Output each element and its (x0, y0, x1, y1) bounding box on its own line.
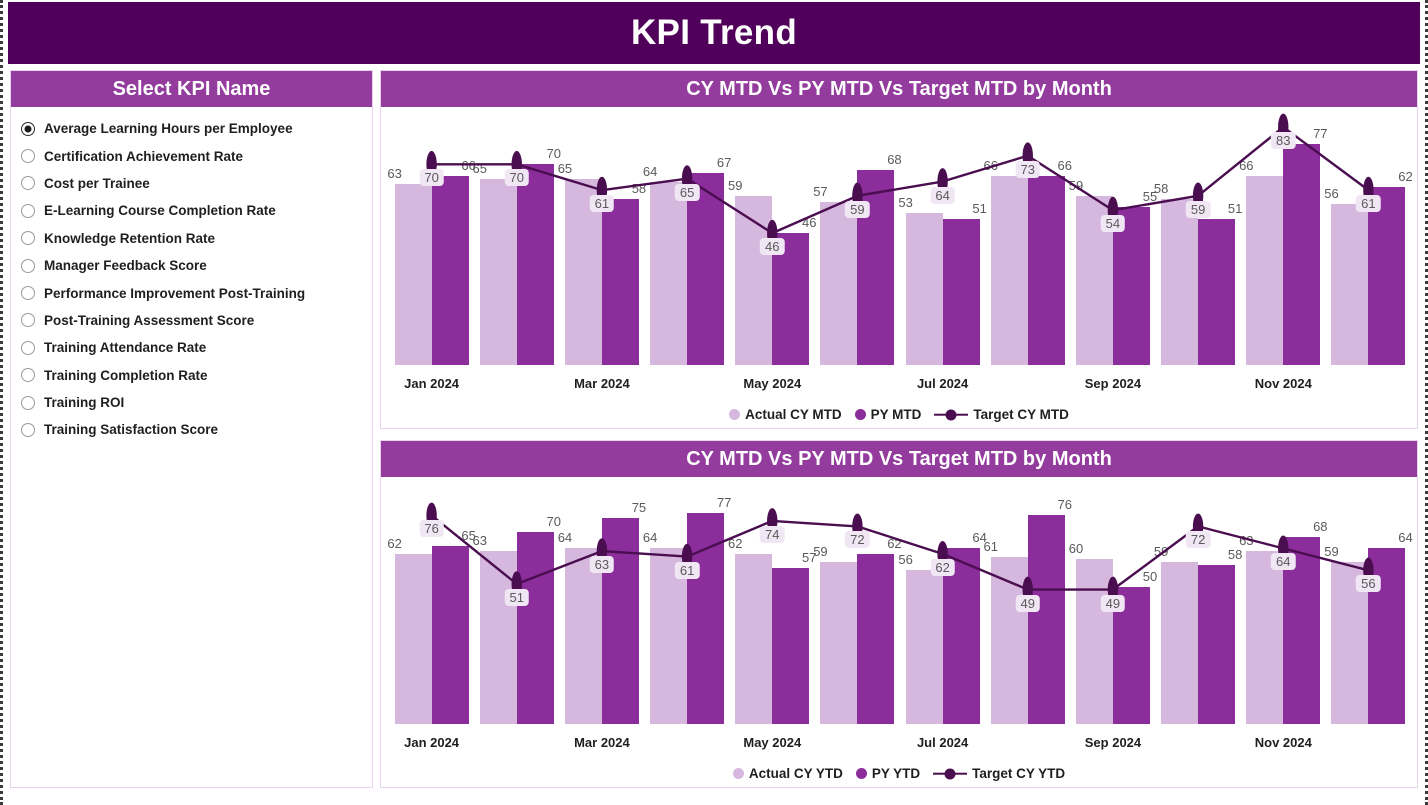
bars (985, 107, 1070, 365)
x-axis-label: Mar 2024 (559, 735, 644, 750)
bar-py[interactable] (857, 170, 894, 365)
bar-data-label: 63 (387, 166, 401, 181)
chart-header-mtd: CY MTD Vs PY MTD Vs Target MTD by Month (381, 71, 1417, 107)
radio-button-icon[interactable] (21, 204, 35, 218)
target-data-label: 61 (590, 195, 614, 212)
plot-area-ytd: 6265Jan 20246370Feb 20246475Mar 20246477… (381, 477, 1417, 750)
month-group[interactable]: 6666Aug 2024 (985, 107, 1070, 391)
legend-label: Target CY YTD (972, 766, 1065, 781)
slicer-header: Select KPI Name (11, 71, 372, 107)
chart-header-ytd: CY MTD Vs PY MTD Vs Target MTD by Month (381, 441, 1417, 477)
radio-button-icon[interactable] (21, 368, 35, 382)
month-group[interactable]: 5662Dec 2024 (1326, 107, 1411, 391)
bar-group-container: 6265Jan 20246370Feb 20246475Mar 20246477… (389, 477, 1411, 750)
target-data-label: 51 (505, 589, 529, 606)
target-data-label: 70 (505, 169, 529, 186)
report-page: KPI Trend Select KPI Name Average Learni… (0, 0, 1428, 805)
radio-button-icon[interactable] (21, 341, 35, 355)
legend-item[interactable]: Actual CY MTD (729, 407, 842, 422)
bar-data-label: 64 (643, 164, 657, 179)
chart-legend-ytd[interactable]: Actual CY YTDPY YTDTarget CY YTD (381, 766, 1417, 781)
target-data-label: 76 (419, 520, 443, 537)
slicer-item[interactable]: Knowledge Retention Rate (21, 225, 372, 252)
slicer-item[interactable]: Certification Achievement Rate (21, 142, 372, 169)
bars (559, 107, 644, 365)
target-data-label: 64 (1271, 553, 1295, 570)
bar-data-label: 57 (813, 184, 827, 199)
bar-data-label: 59 (728, 178, 742, 193)
bar-data-label: 64 (643, 530, 657, 545)
bar-py[interactable] (432, 546, 469, 724)
bar-actual[interactable] (395, 554, 432, 724)
legend-label: PY MTD (871, 407, 922, 422)
x-axis-label: Mar 2024 (559, 376, 644, 391)
bar-data-label: 53 (898, 195, 912, 210)
bars (815, 477, 900, 724)
bar-actual[interactable] (820, 202, 857, 365)
bar-actual[interactable] (1161, 199, 1198, 365)
month-group[interactable]: 5768Jun 2024 (815, 107, 900, 391)
legend-item[interactable]: Target CY MTD (934, 407, 1069, 422)
x-axis-label: May 2024 (730, 376, 815, 391)
bar-data-label: 58 (1154, 181, 1168, 196)
month-group[interactable]: 6176Aug 2024 (985, 477, 1070, 750)
bars (1326, 107, 1411, 365)
bar-py[interactable] (687, 513, 724, 724)
bar-data-label: 61 (984, 539, 998, 554)
bar-py[interactable] (517, 164, 554, 365)
line-marker-icon (933, 768, 967, 779)
radio-button-icon[interactable] (21, 122, 35, 136)
slicer-item[interactable]: Training Completion Rate (21, 362, 372, 389)
slicer-item-label: Average Learning Hours per Employee (44, 121, 293, 136)
bar-actual[interactable] (991, 176, 1028, 365)
bar-data-label: 62 (387, 536, 401, 551)
legend-swatch-icon (856, 768, 867, 779)
month-group[interactable]: 5962Jun 2024 (815, 477, 900, 750)
x-axis-label: Nov 2024 (1241, 735, 1326, 750)
bar-data-label: 64 (558, 530, 572, 545)
slicer-item-label: Manager Feedback Score (44, 258, 207, 273)
target-data-label: 59 (1186, 201, 1210, 218)
bar-py[interactable] (1283, 144, 1320, 365)
month-group[interactable]: 5351Jul 2024 (900, 107, 985, 391)
bar-data-label: 59 (1154, 544, 1168, 559)
bars (645, 477, 730, 724)
bar-py[interactable] (943, 219, 980, 365)
month-group[interactable]: 6677Nov 2024 (1241, 107, 1326, 391)
slicer-item-label: Performance Improvement Post-Training (44, 286, 305, 301)
radio-button-icon[interactable] (21, 259, 35, 273)
bar-data-label: 63 (1239, 533, 1253, 548)
month-group[interactable]: 6558Mar 2024 (559, 107, 644, 391)
bar-actual[interactable] (1246, 551, 1283, 724)
slicer-item[interactable]: Training Attendance Rate (21, 334, 372, 361)
target-data-label: 61 (1356, 195, 1380, 212)
bar-py[interactable] (1028, 176, 1065, 365)
bars (1326, 477, 1411, 724)
legend-item[interactable]: PY MTD (855, 407, 922, 422)
target-data-label: 74 (760, 526, 784, 543)
bar-data-label: 59 (1069, 178, 1083, 193)
bar-py[interactable] (1198, 565, 1235, 724)
report-title-bar: KPI Trend (8, 2, 1420, 64)
target-data-label: 49 (1016, 595, 1040, 612)
month-group[interactable]: 5964Dec 2024 (1326, 477, 1411, 750)
x-axis-label: May 2024 (730, 735, 815, 750)
bars (389, 477, 474, 724)
x-axis-label: Jul 2024 (900, 376, 985, 391)
bar-data-label: 56 (898, 552, 912, 567)
bars (900, 107, 985, 365)
legend-label: Actual CY MTD (745, 407, 842, 422)
slicer-item-label: Training Satisfaction Score (44, 422, 218, 437)
slicer-item[interactable]: Cost per Trainee (21, 170, 372, 197)
bar-actual[interactable] (1331, 204, 1368, 365)
x-axis-label: Jul 2024 (900, 735, 985, 750)
month-group[interactable]: 6475Mar 2024 (559, 477, 644, 750)
month-group[interactable]: 6370Feb 2024 (474, 477, 559, 750)
bars (900, 477, 985, 724)
month-group[interactable]: 6050Sep 2024 (1070, 477, 1155, 750)
line-marker-icon (934, 409, 968, 420)
slicer-item[interactable]: Manager Feedback Score (21, 252, 372, 279)
bar-data-label: 66 (1239, 158, 1253, 173)
target-data-label: 83 (1271, 132, 1295, 149)
month-group[interactable]: 5955Sep 2024 (1070, 107, 1155, 391)
legend-label: PY YTD (872, 766, 920, 781)
slicer-item-list: Average Learning Hours per EmployeeCerti… (11, 107, 372, 444)
bar-py[interactable] (602, 518, 639, 724)
bar-py[interactable] (1198, 219, 1235, 365)
radio-button-icon[interactable] (21, 313, 35, 327)
bar-py[interactable] (1368, 187, 1405, 365)
slicer-item-label: Cost per Trainee (44, 176, 150, 191)
target-data-label: 63 (590, 556, 614, 573)
legend-label: Actual CY YTD (749, 766, 843, 781)
slicer-item[interactable]: Post-Training Assessment Score (21, 307, 372, 334)
radio-button-icon[interactable] (21, 231, 35, 245)
bars (1156, 107, 1241, 365)
bar-actual[interactable] (1161, 562, 1198, 724)
legend-swatch-icon (733, 768, 744, 779)
bar-py[interactable] (857, 554, 894, 724)
target-data-label: 65 (675, 184, 699, 201)
month-group[interactable]: 6265Jan 2024 (389, 477, 474, 750)
bar-py[interactable] (687, 173, 724, 365)
radio-button-icon[interactable] (21, 176, 35, 190)
bar-py[interactable] (772, 568, 809, 724)
kpi-name-slicer[interactable]: Select KPI Name Average Learning Hours p… (10, 70, 373, 788)
target-data-label: 54 (1101, 215, 1125, 232)
legend-item[interactable]: PY YTD (856, 766, 920, 781)
bar-py[interactable] (517, 532, 554, 724)
chart-title-ytd: CY MTD Vs PY MTD Vs Target MTD by Month (686, 448, 1112, 471)
chart-legend-mtd[interactable]: Actual CY MTDPY MTDTarget CY MTD (381, 407, 1417, 422)
month-group[interactable]: 5851Oct 2024 (1156, 107, 1241, 391)
bar-group-container: 6366Jan 20246570Feb 20246558Mar 20246467… (389, 107, 1411, 391)
bar-data-label: 60 (1069, 541, 1083, 556)
bar-data-label: 56 (1324, 186, 1338, 201)
legend-swatch-icon (855, 409, 866, 420)
slicer-item-label: Post-Training Assessment Score (44, 313, 254, 328)
radio-button-icon[interactable] (21, 149, 35, 163)
slicer-item[interactable]: Performance Improvement Post-Training (21, 279, 372, 306)
bar-data-label: 65 (558, 161, 572, 176)
target-data-label: 62 (930, 559, 954, 576)
bars (1070, 107, 1155, 365)
month-group[interactable]: 6368Nov 2024 (1241, 477, 1326, 750)
plot-ytd[interactable]: 6265Jan 20246370Feb 20246475Mar 20246477… (389, 477, 1411, 750)
bars (1241, 477, 1326, 724)
x-axis-label: Jan 2024 (389, 735, 474, 750)
slicer-item-label: Training ROI (44, 395, 124, 410)
bars (730, 477, 815, 724)
month-group[interactable]: 6366Jan 2024 (389, 107, 474, 391)
bar-data-label: 65 (473, 161, 487, 176)
bar-py[interactable] (602, 199, 639, 365)
legend-label: Target CY MTD (973, 407, 1069, 422)
chart-card-ytd: CY MTD Vs PY MTD Vs Target MTD by Month … (380, 440, 1418, 788)
bars (645, 107, 730, 365)
bars (389, 107, 474, 365)
slicer-item-label: E-Learning Course Completion Rate (44, 203, 276, 218)
month-group[interactable]: 5664Jul 2024 (900, 477, 985, 750)
bar-actual[interactable] (650, 182, 687, 365)
bar-actual[interactable] (906, 213, 943, 365)
plot-area-mtd: 6366Jan 20246570Feb 20246558Mar 20246467… (381, 107, 1417, 391)
bar-data-label: 63 (473, 533, 487, 548)
bar-data-label: 62 (728, 536, 742, 551)
target-data-label: 56 (1356, 575, 1380, 592)
bar-data-label: 59 (1324, 544, 1338, 559)
slicer-item[interactable]: E-Learning Course Completion Rate (21, 197, 372, 224)
chart-card-mtd: CY MTD Vs PY MTD Vs Target MTD by Month … (380, 70, 1418, 429)
target-data-label: 73 (1016, 161, 1040, 178)
target-data-label: 61 (675, 562, 699, 579)
bar-actual[interactable] (906, 570, 943, 724)
chart-title-mtd: CY MTD Vs PY MTD Vs Target MTD by Month (686, 78, 1112, 101)
target-data-label: 59 (845, 201, 869, 218)
slicer-item-label: Training Completion Rate (44, 368, 208, 383)
month-group[interactable]: 6257May 2024 (730, 477, 815, 750)
bar-data-label: 66 (984, 158, 998, 173)
bar-py[interactable] (432, 176, 469, 365)
bar-actual[interactable] (735, 554, 772, 724)
legend-item[interactable]: Target CY YTD (933, 766, 1065, 781)
bar-py[interactable] (1028, 515, 1065, 724)
bar-data-label: 64 (1398, 530, 1412, 545)
month-group[interactable]: 6570Feb 2024 (474, 107, 559, 391)
month-group[interactable]: 6477Apr 2024 (645, 477, 730, 750)
plot-mtd[interactable]: 6366Jan 20246570Feb 20246558Mar 20246467… (389, 107, 1411, 391)
x-axis-label: Jan 2024 (389, 376, 474, 391)
bars (730, 107, 815, 365)
x-axis-label: Sep 2024 (1070, 735, 1155, 750)
radio-button-icon[interactable] (21, 423, 35, 437)
slicer-item[interactable]: Training ROI (21, 389, 372, 416)
bar-actual[interactable] (480, 179, 517, 365)
target-data-label: 72 (845, 531, 869, 548)
page-title: KPI Trend (631, 13, 797, 53)
radio-button-icon[interactable] (21, 396, 35, 410)
bar-actual[interactable] (480, 551, 517, 724)
bar-data-label: 59 (813, 544, 827, 559)
bar-data-label: 62 (1398, 169, 1412, 184)
legend-swatch-icon (729, 409, 740, 420)
bar-actual[interactable] (1246, 176, 1283, 365)
bar-actual[interactable] (991, 557, 1028, 724)
bar-actual[interactable] (820, 562, 857, 724)
slicer-item-label: Training Attendance Rate (44, 340, 206, 355)
bar-actual[interactable] (1076, 559, 1113, 724)
target-data-label: 64 (930, 187, 954, 204)
legend-item[interactable]: Actual CY YTD (733, 766, 843, 781)
bar-actual[interactable] (565, 548, 602, 724)
slicer-header-label: Select KPI Name (113, 78, 271, 101)
bars (815, 107, 900, 365)
bars (1156, 477, 1241, 724)
x-axis-label: Nov 2024 (1241, 376, 1326, 391)
bar-actual[interactable] (395, 184, 432, 365)
target-data-label: 72 (1186, 531, 1210, 548)
target-data-label: 46 (760, 238, 784, 255)
x-axis-label: Sep 2024 (1070, 376, 1155, 391)
radio-button-icon[interactable] (21, 286, 35, 300)
slicer-item[interactable]: Average Learning Hours per Employee (21, 115, 372, 142)
bar-actual[interactable] (735, 196, 772, 365)
target-data-label: 70 (419, 169, 443, 186)
slicer-item-label: Knowledge Retention Rate (44, 231, 215, 246)
month-group[interactable]: 6467Apr 2024 (645, 107, 730, 391)
slicer-item-label: Certification Achievement Rate (44, 149, 243, 164)
target-data-label: 49 (1101, 595, 1125, 612)
month-group[interactable]: 5958Oct 2024 (1156, 477, 1241, 750)
slicer-item[interactable]: Training Satisfaction Score (21, 416, 372, 443)
